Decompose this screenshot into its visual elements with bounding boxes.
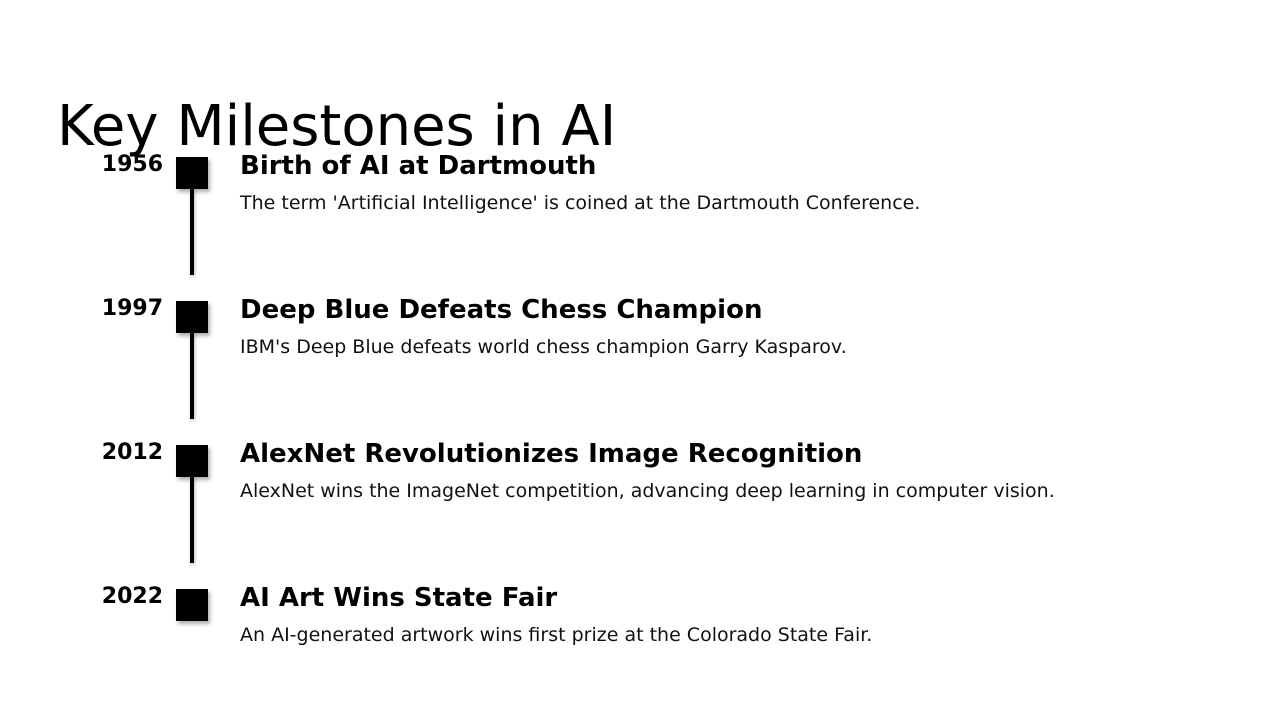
timeline-entry-title: Birth of AI at Dartmouth: [240, 150, 1240, 182]
timeline-entry-title: AlexNet Revolutionizes Image Recognition: [240, 438, 1240, 470]
timeline-row: 2022 AI Art Wins State Fair An AI-genera…: [0, 582, 1280, 726]
slide-canvas: Key Milestones in AI 1956 Birth of AI at…: [0, 0, 1280, 720]
timeline-year-label: 2022: [48, 584, 163, 610]
square-marker-icon: [176, 589, 208, 621]
timeline-entry-description: IBM's Deep Blue defeats world chess cham…: [240, 335, 1240, 359]
timeline-row: 1956 Birth of AI at Dartmouth The term '…: [0, 150, 1280, 294]
timeline-entry-body: Birth of AI at Dartmouth The term 'Artif…: [240, 150, 1240, 215]
square-marker-icon: [176, 445, 208, 477]
timeline-entry-title: Deep Blue Defeats Chess Champion: [240, 294, 1240, 326]
timeline-row: 2012 AlexNet Revolutionizes Image Recogn…: [0, 438, 1280, 582]
timeline-year-label: 2012: [48, 440, 163, 466]
timeline-entry-description: An AI-generated artwork wins first prize…: [240, 623, 1240, 647]
timeline-entry-title: AI Art Wins State Fair: [240, 582, 1240, 614]
timeline-entry-description: AlexNet wins the ImageNet competition, a…: [240, 479, 1240, 503]
timeline-row: 1997 Deep Blue Defeats Chess Champion IB…: [0, 294, 1280, 438]
timeline-entry-description: The term 'Artificial Intelligence' is co…: [240, 191, 1240, 215]
square-marker-icon: [176, 157, 208, 189]
connector-line: [190, 189, 194, 275]
connector-line: [190, 477, 194, 563]
timeline-entry-body: AI Art Wins State Fair An AI-generated a…: [240, 582, 1240, 647]
square-marker-icon: [176, 301, 208, 333]
timeline: 1956 Birth of AI at Dartmouth The term '…: [0, 150, 1280, 726]
timeline-year-label: 1956: [48, 152, 163, 178]
timeline-entry-body: Deep Blue Defeats Chess Champion IBM's D…: [240, 294, 1240, 359]
timeline-year-label: 1997: [48, 296, 163, 322]
connector-line: [190, 333, 194, 419]
timeline-entry-body: AlexNet Revolutionizes Image Recognition…: [240, 438, 1240, 503]
